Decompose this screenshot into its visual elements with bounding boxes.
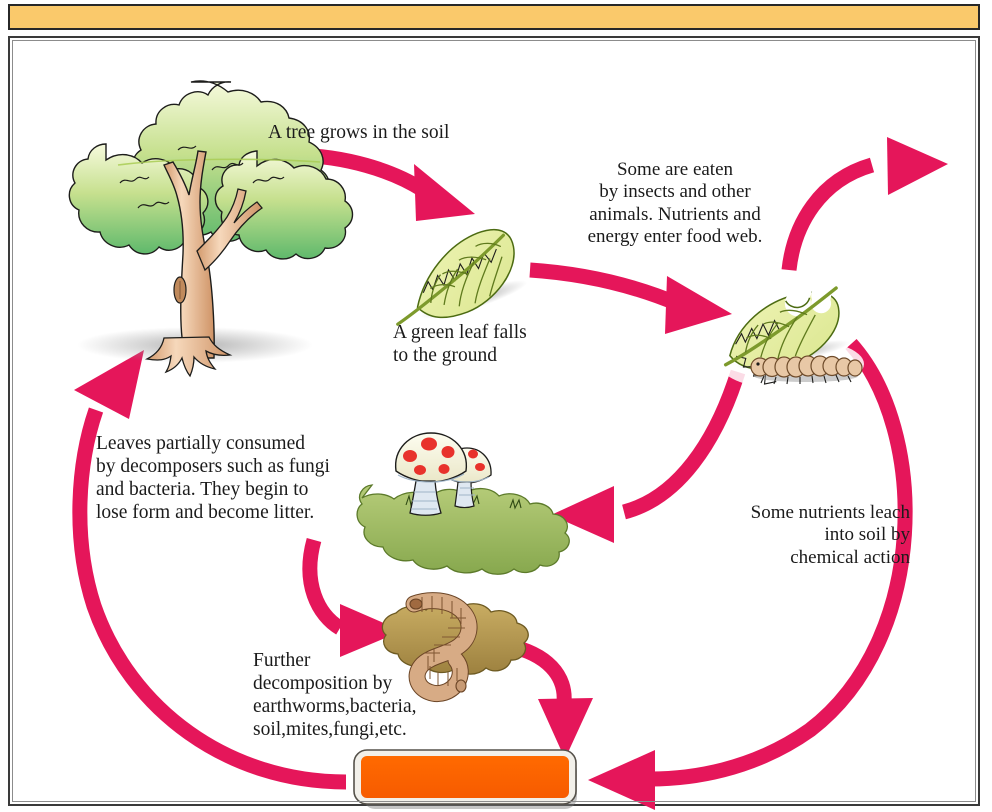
arrow-litter-to-soil (310, 540, 402, 657)
arrow-leach-to-box (588, 344, 905, 810)
caption-some-are-eaten: Some are eaten by insects and other anim… (550, 159, 800, 249)
caption-tree-grows: A tree grows in the soil (268, 121, 449, 144)
caption-decomposers: Leaves partially consumed by decomposers… (96, 432, 330, 524)
diagram-page: .ar{fill:none;stroke:#e5165a;stroke-widt… (0, 0, 992, 812)
diagram-panel: .ar{fill:none;stroke:#e5165a;stroke-widt… (8, 36, 980, 806)
arrow-leaf-to-caterpillar (530, 270, 732, 334)
arrow-tree-to-leaf (295, 155, 475, 221)
arrow-soil-to-box (500, 644, 593, 759)
caption-leaf-falls: A green leaf falls to the ground (393, 321, 527, 367)
arrow-to-food-web (789, 137, 948, 270)
caption-nutrients-leach: Some nutrients leach into soil by chemic… (700, 502, 910, 569)
caption-further-decomposition: Further decomposition by earthworms,bact… (253, 649, 417, 741)
arrow-layer: .ar{fill:none;stroke:#e5165a;stroke-widt… (10, 38, 992, 812)
title-bar (8, 4, 980, 30)
